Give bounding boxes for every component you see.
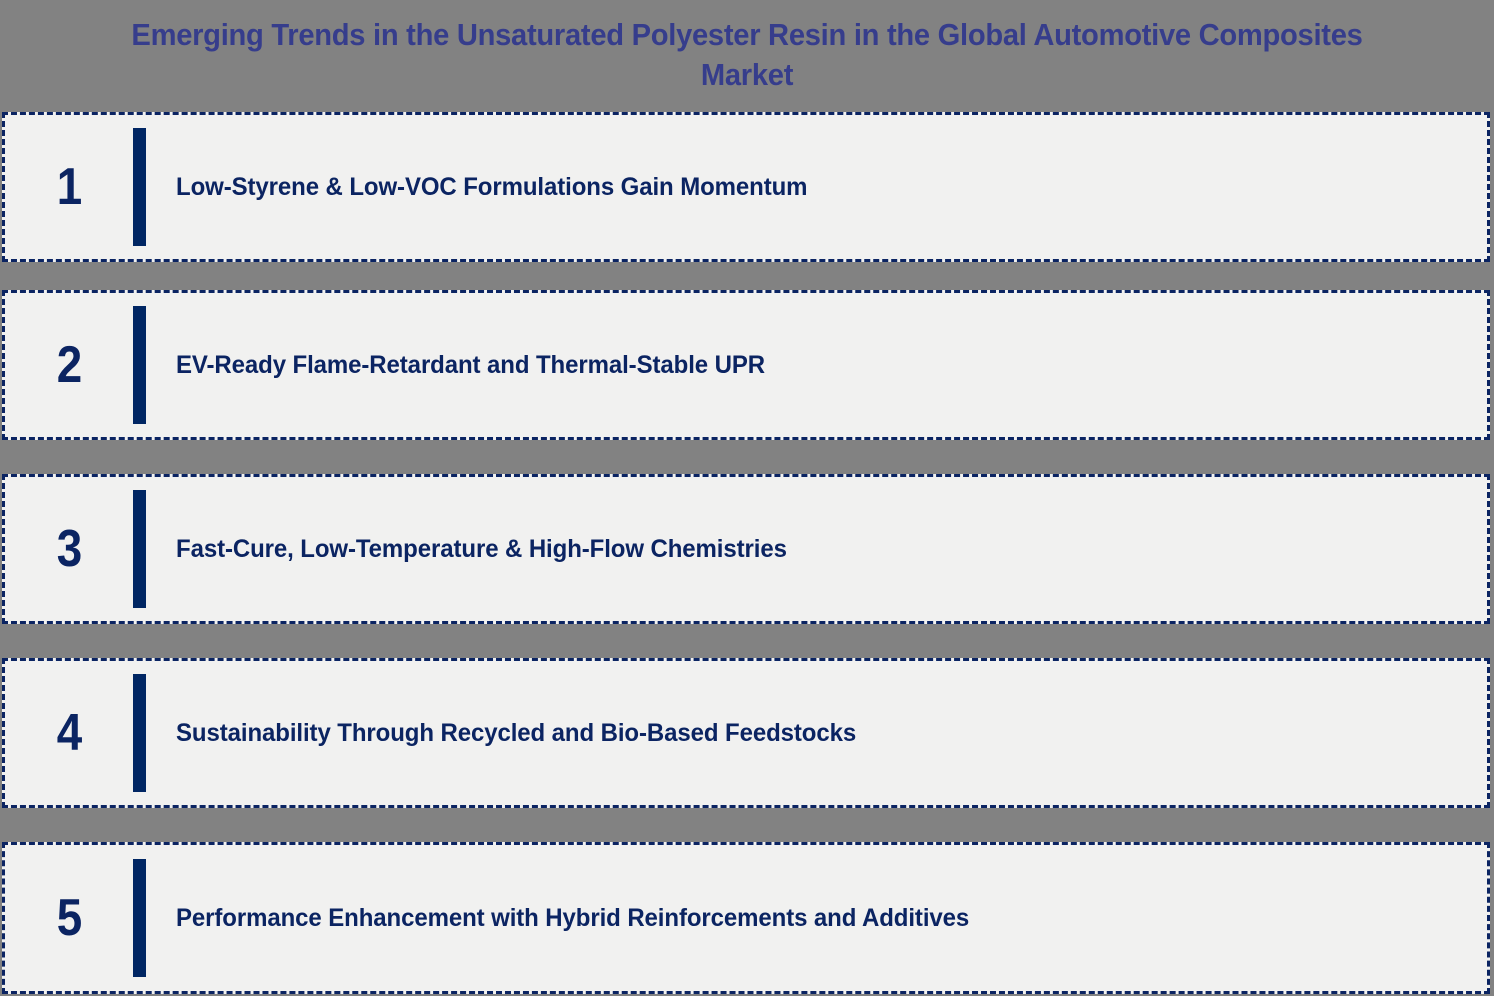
infographic-page: Emerging Trends in the Unsaturated Polye… [0,0,1494,996]
vertical-bar-icon [133,490,146,608]
page-title: Emerging Trends in the Unsaturated Polye… [98,15,1395,95]
trend-label: Low-Styrene & Low-VOC Formulations Gain … [176,172,807,202]
trend-number: 1 [56,161,81,213]
trend-number: 4 [56,707,81,759]
trend-label: EV-Ready Flame-Retardant and Thermal-Sta… [176,350,765,380]
trend-number-cell: 5 [5,845,133,991]
vertical-bar-icon [133,306,146,424]
trend-number: 2 [56,339,81,391]
trend-label-cell: Performance Enhancement with Hybrid Rein… [147,845,1487,991]
trend-label-cell: Fast-Cure, Low-Temperature & High-Flow C… [147,477,1487,621]
trends-list: 1 Low-Styrene & Low-VOC Formulations Gai… [2,112,1490,994]
trend-label-cell: Sustainability Through Recycled and Bio-… [147,661,1487,805]
vertical-bar-icon [133,674,146,792]
trend-label: Fast-Cure, Low-Temperature & High-Flow C… [176,534,787,564]
title-area: Emerging Trends in the Unsaturated Polye… [0,0,1494,110]
vertical-bar-icon [133,128,146,246]
list-item[interactable]: 4 Sustainability Through Recycled and Bi… [2,658,1490,808]
trend-number-cell: 3 [5,477,133,621]
trend-number-cell: 1 [5,115,133,259]
trend-number-cell: 2 [5,293,133,437]
trend-number-cell: 4 [5,661,133,805]
trend-number: 5 [56,892,81,944]
trend-label-cell: Low-Styrene & Low-VOC Formulations Gain … [147,115,1487,259]
list-item[interactable]: 2 EV-Ready Flame-Retardant and Thermal-S… [2,290,1490,440]
accent-bar-cell [133,293,147,437]
trend-label: Performance Enhancement with Hybrid Rein… [176,903,969,933]
vertical-bar-icon [133,859,146,977]
list-item[interactable]: 1 Low-Styrene & Low-VOC Formulations Gai… [2,112,1490,262]
trend-label-cell: EV-Ready Flame-Retardant and Thermal-Sta… [147,293,1487,437]
accent-bar-cell [133,661,147,805]
trend-number: 3 [56,523,81,575]
accent-bar-cell [133,477,147,621]
accent-bar-cell [133,845,147,991]
list-item[interactable]: 3 Fast-Cure, Low-Temperature & High-Flow… [2,474,1490,624]
accent-bar-cell [133,115,147,259]
trend-label: Sustainability Through Recycled and Bio-… [176,718,856,748]
list-item[interactable]: 5 Performance Enhancement with Hybrid Re… [2,842,1490,994]
